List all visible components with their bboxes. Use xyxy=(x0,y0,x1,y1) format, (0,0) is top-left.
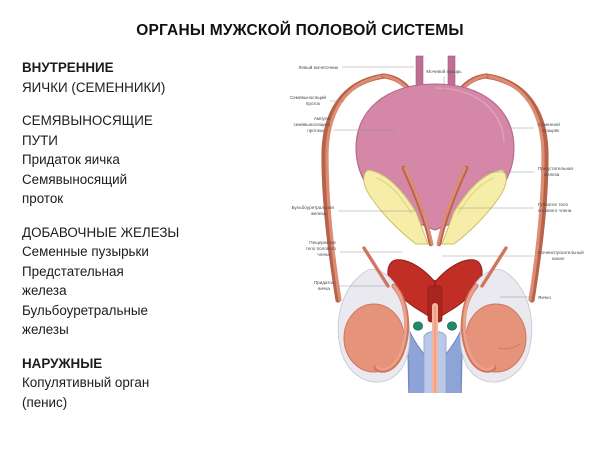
section-heading-ducts-2: ПУТИ xyxy=(22,131,232,151)
label-corpus-cavernosum-line3: члена xyxy=(317,252,330,257)
label-seminal-vesicle-line1: Семенной xyxy=(538,121,560,127)
section-item-glands-3: Бульбоуретральные xyxy=(22,301,232,321)
section-heading-internal: ВНУТРЕННИЕ xyxy=(22,58,232,78)
label-prostate-line2: железа xyxy=(544,172,560,177)
section-item-glands-1: Предстательная xyxy=(22,262,232,282)
label-urinary-bladder: Мочевой пузырь xyxy=(426,68,462,74)
section-item-external-0: Копулятивный орган xyxy=(22,373,232,393)
section-item-glands-0: Семенные пузырьки xyxy=(22,242,232,262)
label-bulbourethral-line1: Бульбоуретральная xyxy=(292,205,335,210)
section-item-ducts-1: Семявыносящий xyxy=(22,170,232,190)
male-reproductive-system-diagram: Левый мочеточник Мочевой пузырь Семявыно… xyxy=(276,48,594,393)
section-item-internal-0: ЯИЧКИ (СЕМЕННИКИ) xyxy=(22,78,232,98)
label-ampulla-line1: Ампула xyxy=(314,116,331,121)
label-testis: Яичко xyxy=(538,295,551,300)
label-ampulla-line3: протока xyxy=(307,128,324,133)
label-corpus-spongiosum-line2: полового члена xyxy=(538,208,572,213)
label-epididymis-line2: яичка xyxy=(318,286,331,291)
section-item-glands-2: железа xyxy=(22,281,232,301)
section-item-external-1: (пенис) xyxy=(22,393,232,413)
label-prostate-line1: Предстательная xyxy=(538,166,573,171)
label-corpus-cavernosum-line2: тело полового xyxy=(306,246,337,251)
section-heading-external: НАРУЖНЫЕ xyxy=(22,354,232,374)
label-vas-deferens-line1: Семявыносящий xyxy=(290,94,326,100)
list-section-external: НАРУЖНЫЕ Копулятивный орган (пенис) xyxy=(22,354,232,413)
section-item-glands-4: железы xyxy=(22,320,232,340)
organ-list: ВНУТРЕННИЕ ЯИЧКИ (СЕМЕННИКИ) СЕМЯВЫНОСЯЩ… xyxy=(22,58,232,412)
label-bulbourethral-line2: железа xyxy=(311,211,327,216)
label-urethra-line2: канал xyxy=(552,256,565,261)
label-seminal-vesicle-line2: пузырёк xyxy=(542,128,560,133)
page-title: ОРГАНЫ МУЖСКОЙ ПОЛОВОЙ СИСТЕМЫ xyxy=(0,22,600,40)
section-item-ducts-2: проток xyxy=(22,189,232,209)
section-item-ducts-0: Придаток яичка xyxy=(22,150,232,170)
label-ampulla-line2: семявыносящего xyxy=(293,122,330,127)
label-epididymis-line1: Придаток xyxy=(314,280,335,285)
label-corpus-cavernosum-line1: Пещеристое xyxy=(309,240,336,245)
list-section-internal: ВНУТРЕННИЕ ЯИЧКИ (СЕМЕННИКИ) xyxy=(22,58,232,97)
label-corpus-spongiosum-line1: Губчатое тело xyxy=(538,202,568,207)
list-section-ducts: СЕМЯВЫНОСЯЩИЕ ПУТИ Придаток яичка Семявы… xyxy=(22,111,232,209)
label-urethra-line1: Мочеиспускательный xyxy=(538,249,584,255)
label-left-ureter: Левый мочеточник xyxy=(298,64,339,70)
label-vas-deferens-line2: проток xyxy=(306,101,321,106)
list-section-glands: ДОБАВОЧНЫЕ ЖЕЛЕЗЫ Семенные пузырьки Пред… xyxy=(22,223,232,340)
section-heading-ducts: СЕМЯВЫНОСЯЩИЕ xyxy=(22,111,232,131)
section-heading-glands: ДОБАВОЧНЫЕ ЖЕЛЕЗЫ xyxy=(22,223,232,243)
